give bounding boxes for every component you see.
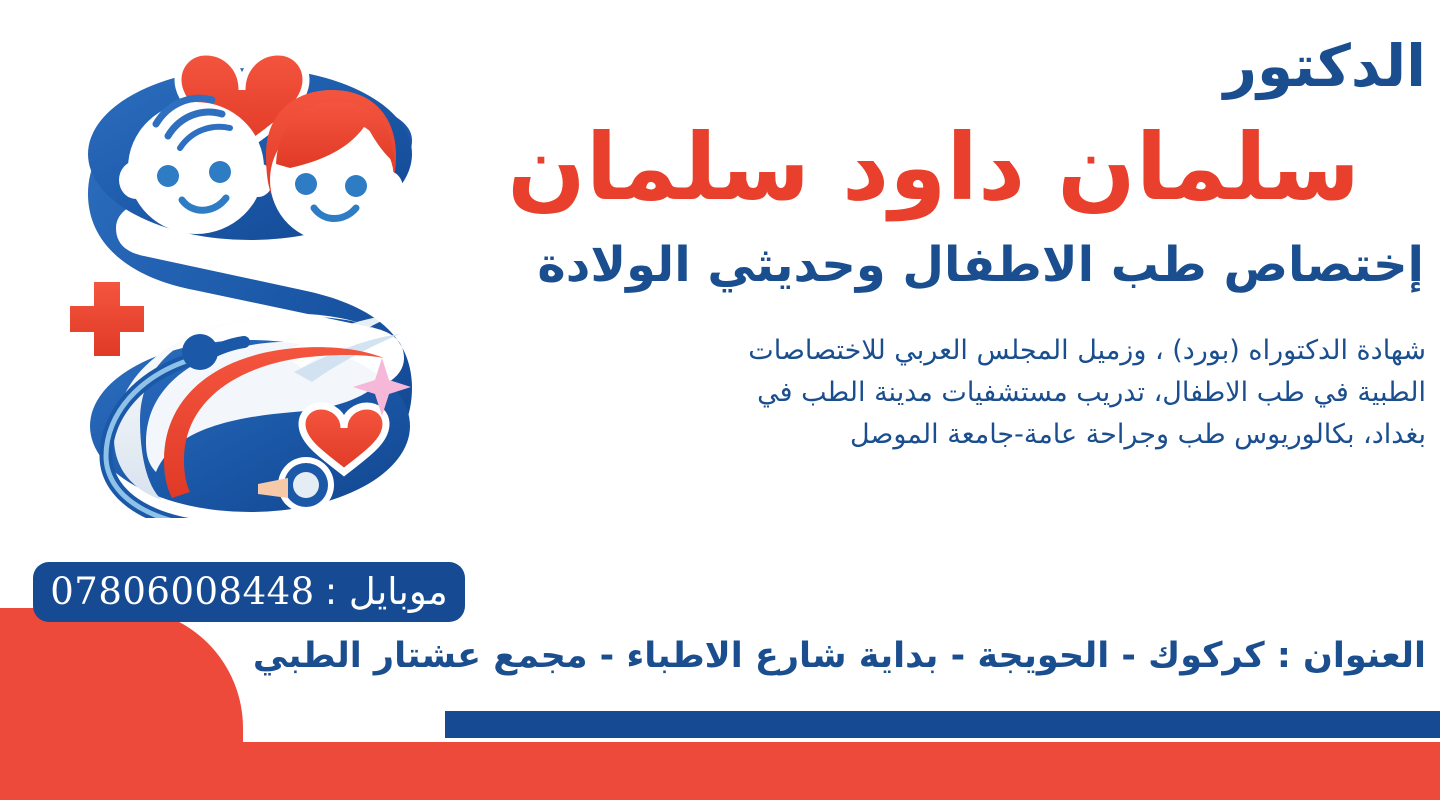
card-text-column: الدكتور سلمان داود سلمان إختصاص طب الاطف…: [450, 0, 1440, 456]
medical-cross-icon: [70, 282, 144, 356]
bio-line-2: الطبية في طب الاطفال، تدريب مستشفيات مدي…: [450, 372, 1426, 414]
bio-paragraph: شهادة الدكتوراه (بورد) ، وزميل المجلس ال…: [450, 330, 1426, 456]
phone-label: موبايل :: [325, 570, 448, 613]
phone-badge[interactable]: موبايل : 07806008448: [33, 562, 465, 622]
bio-line-3: بغداد، بكالوريوس طب وجراحة عامة-جامعة ال…: [450, 414, 1426, 456]
doctor-name: سلمان داود سلمان: [450, 115, 1360, 221]
bio-line-1: شهادة الدكتوراه (بورد) ، وزميل المجلس ال…: [450, 330, 1426, 372]
address-line: العنوان : كركوك - الحويجة - بداية شارع ا…: [253, 636, 1426, 676]
phone-number: 07806008448: [50, 570, 314, 613]
child-face-icon: [266, 90, 403, 242]
bottom-left-red-block: [0, 608, 243, 800]
clinic-logo: [44, 28, 444, 518]
doctor-title: الدكتور: [450, 36, 1426, 97]
specialty-line: إختصاص طب الاطفال وحديثي الولادة: [450, 237, 1424, 295]
bottom-blue-bar: [445, 711, 1440, 738]
business-card: الدكتور سلمان داود سلمان إختصاص طب الاطف…: [0, 0, 1440, 800]
